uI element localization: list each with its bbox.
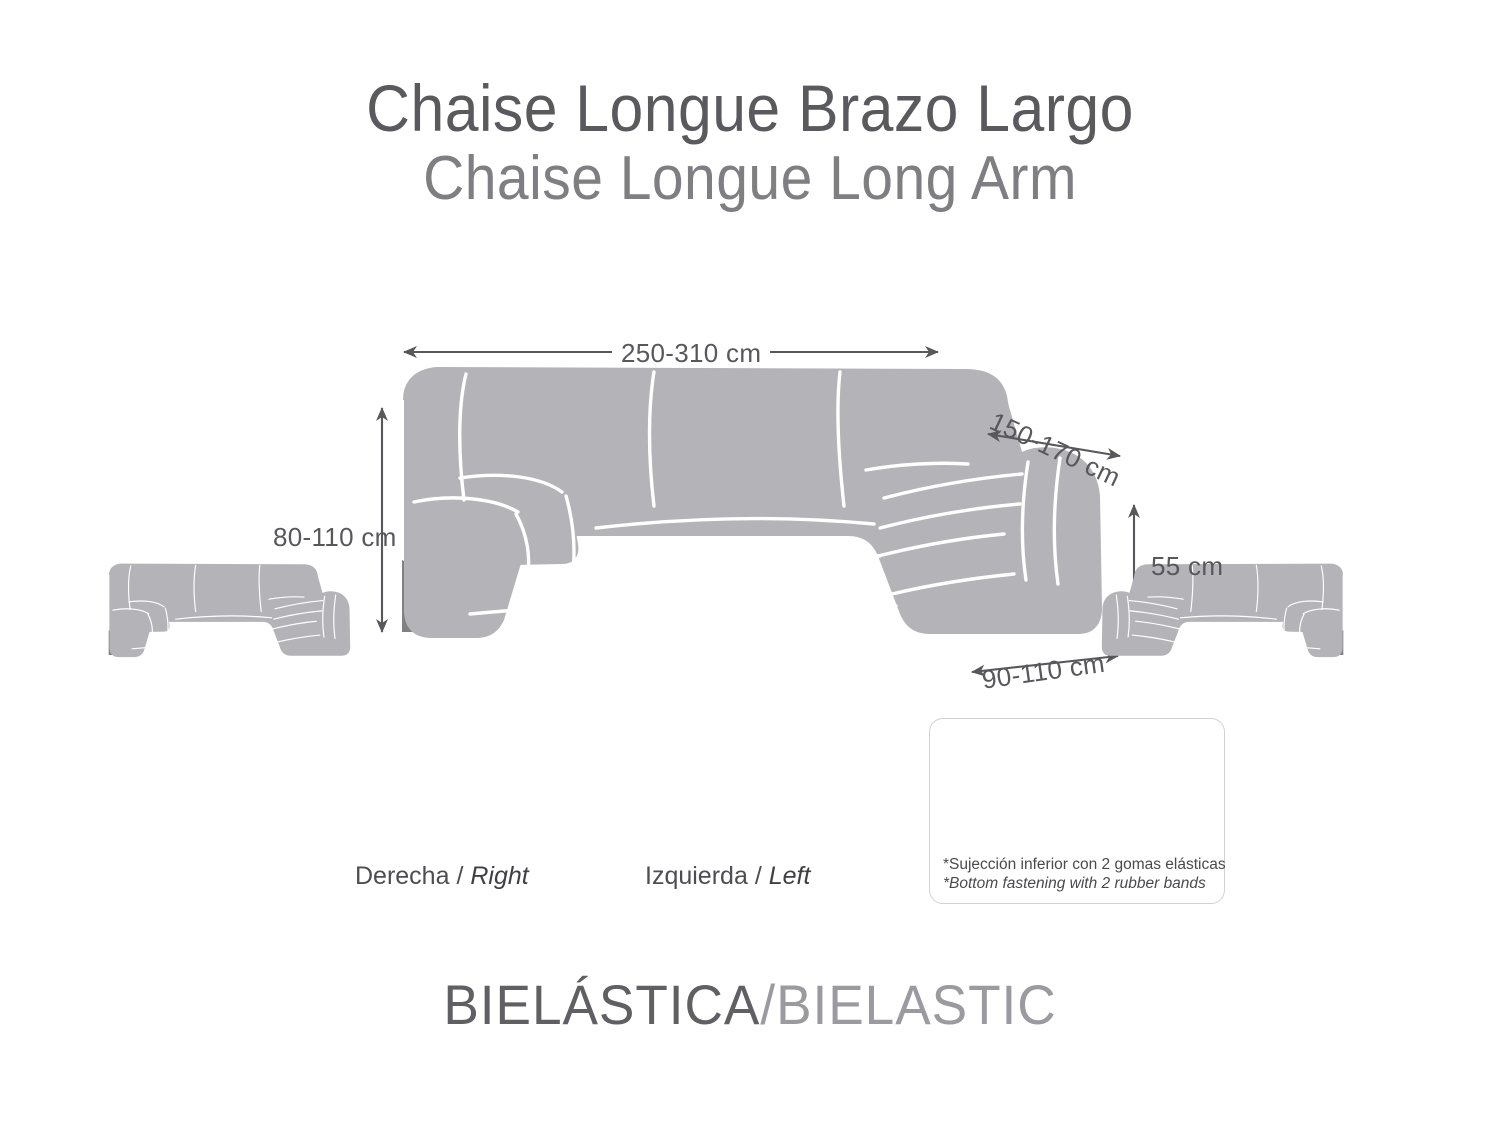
sofa-illustration-right — [109, 564, 351, 657]
dimension-label-width: 250-310 cm — [621, 338, 761, 369]
dimension-label-depth: 55 cm — [1151, 551, 1223, 582]
fastening-note-es: *Sujección inferior con 2 gomas elástica… — [943, 855, 1233, 874]
variant-left-label-es: Izquierda — [645, 862, 748, 890]
dimension-label-bottom: 90-110 cm — [980, 648, 1107, 696]
variant-right-label-en: Right — [470, 862, 528, 890]
variant-caption-left: Izquierda / Left — [645, 862, 810, 891]
variant-caption-right: Derecha / Right — [355, 862, 529, 891]
variant-left-label-en: Left — [769, 862, 811, 890]
dimension-label-height: 80-110 cm — [273, 522, 397, 553]
page-title: Chaise Longue Brazo Largo Chaise Longue … — [0, 72, 1500, 214]
fabric-type-label: BIELÁSTICA/BIELASTIC — [38, 972, 1463, 1037]
product-spec-sheet: Chaise Longue Brazo Largo Chaise Longue … — [0, 0, 1500, 1125]
title-spanish: Chaise Longue Brazo Largo — [60, 72, 1440, 144]
fabric-label-en: /BIELASTIC — [760, 973, 1056, 1036]
fastening-note: *Sujección inferior con 2 gomas elástica… — [943, 855, 1233, 893]
dimension-arrows — [382, 352, 1134, 672]
variant-right-label-es: Derecha — [355, 862, 450, 890]
dimension-label-diagonal: 150-170 cm — [985, 406, 1125, 493]
variant-left-separator: / — [755, 862, 762, 890]
fabric-label-es: BIELÁSTICA — [443, 973, 760, 1036]
variant-right-separator: / — [456, 862, 463, 890]
fastening-note-en: *Bottom fastening with 2 rubber bands — [943, 874, 1233, 893]
title-english: Chaise Longue Long Arm — [60, 144, 1440, 214]
